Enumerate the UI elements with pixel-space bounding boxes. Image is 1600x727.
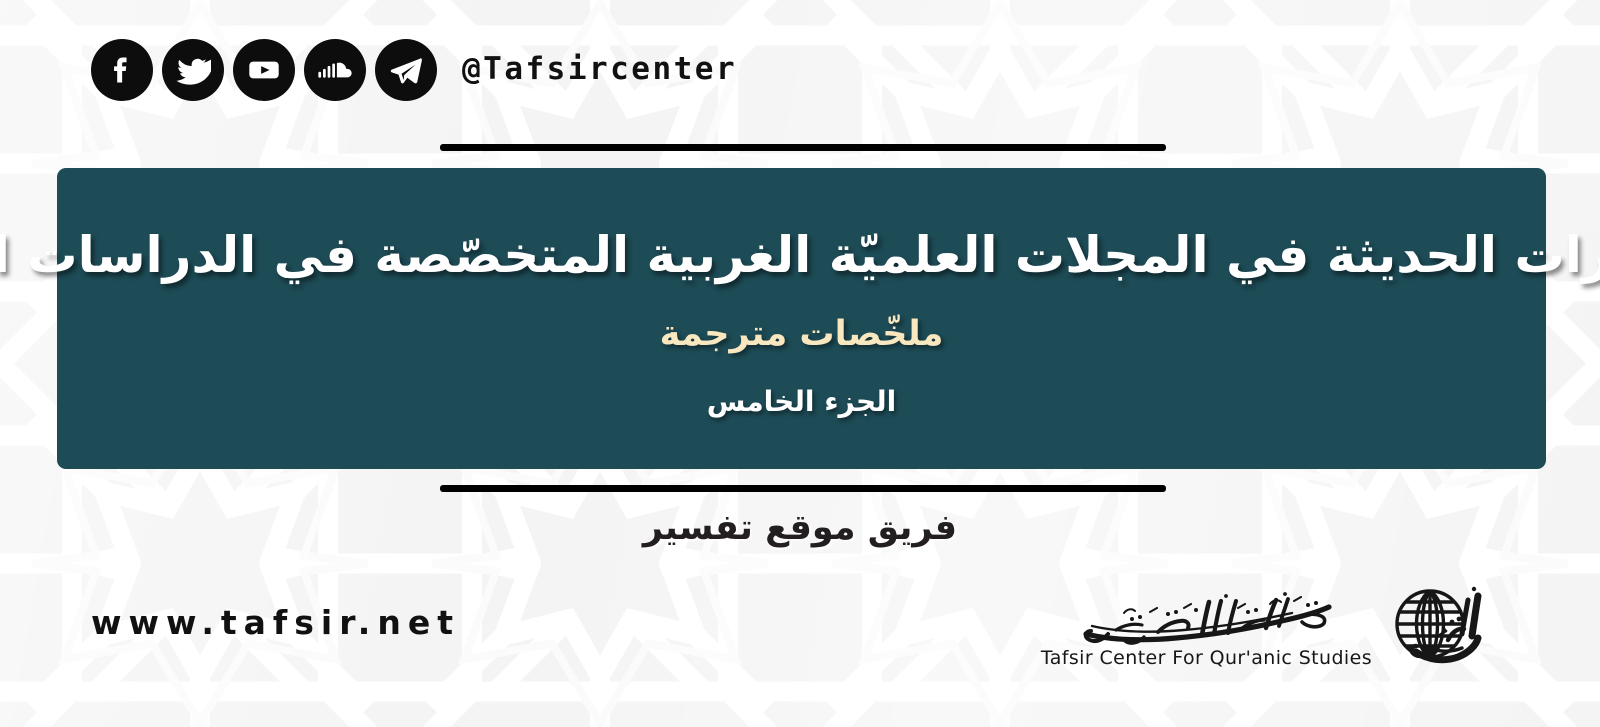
twitter-icon[interactable] <box>162 39 224 101</box>
globe-tafsir-emblem <box>1386 578 1482 678</box>
divider-rule-bottom <box>440 485 1166 492</box>
social-handle-text: @Tafsircenter <box>462 54 737 87</box>
soundcloud-icon[interactable] <box>304 39 366 101</box>
banner-canvas: @Tafsircenter المنشورات الحديثة في المجل… <box>0 0 1600 727</box>
logo-wordmark: Tafsir Center For Qur'anic Studies <box>1041 588 1372 669</box>
logo-wordmark-arabic-calligraphy <box>1080 588 1333 646</box>
website-url[interactable]: www.tafsir.net <box>91 603 460 642</box>
title-card: المنشورات الحديثة في المجلات العلميّة ال… <box>57 168 1546 469</box>
page-title: المنشورات الحديثة في المجلات العلميّة ال… <box>0 225 1600 286</box>
part-label: الجزء الخامس <box>707 385 897 419</box>
facebook-icon[interactable] <box>91 39 153 101</box>
youtube-icon[interactable] <box>233 39 295 101</box>
divider-rule-top <box>440 144 1166 151</box>
logo-wordmark-english: Tafsir Center For Qur'anic Studies <box>1041 647 1372 669</box>
page-subtitle: ملخّصات مترجمة <box>660 313 944 355</box>
social-links-row: @Tafsircenter <box>91 39 737 101</box>
telegram-icon[interactable] <box>375 39 437 101</box>
team-credit: فريق موقع تفسير <box>0 508 1600 548</box>
logo-lockup[interactable]: Tafsir Center For Qur'anic Studies <box>1041 578 1482 678</box>
